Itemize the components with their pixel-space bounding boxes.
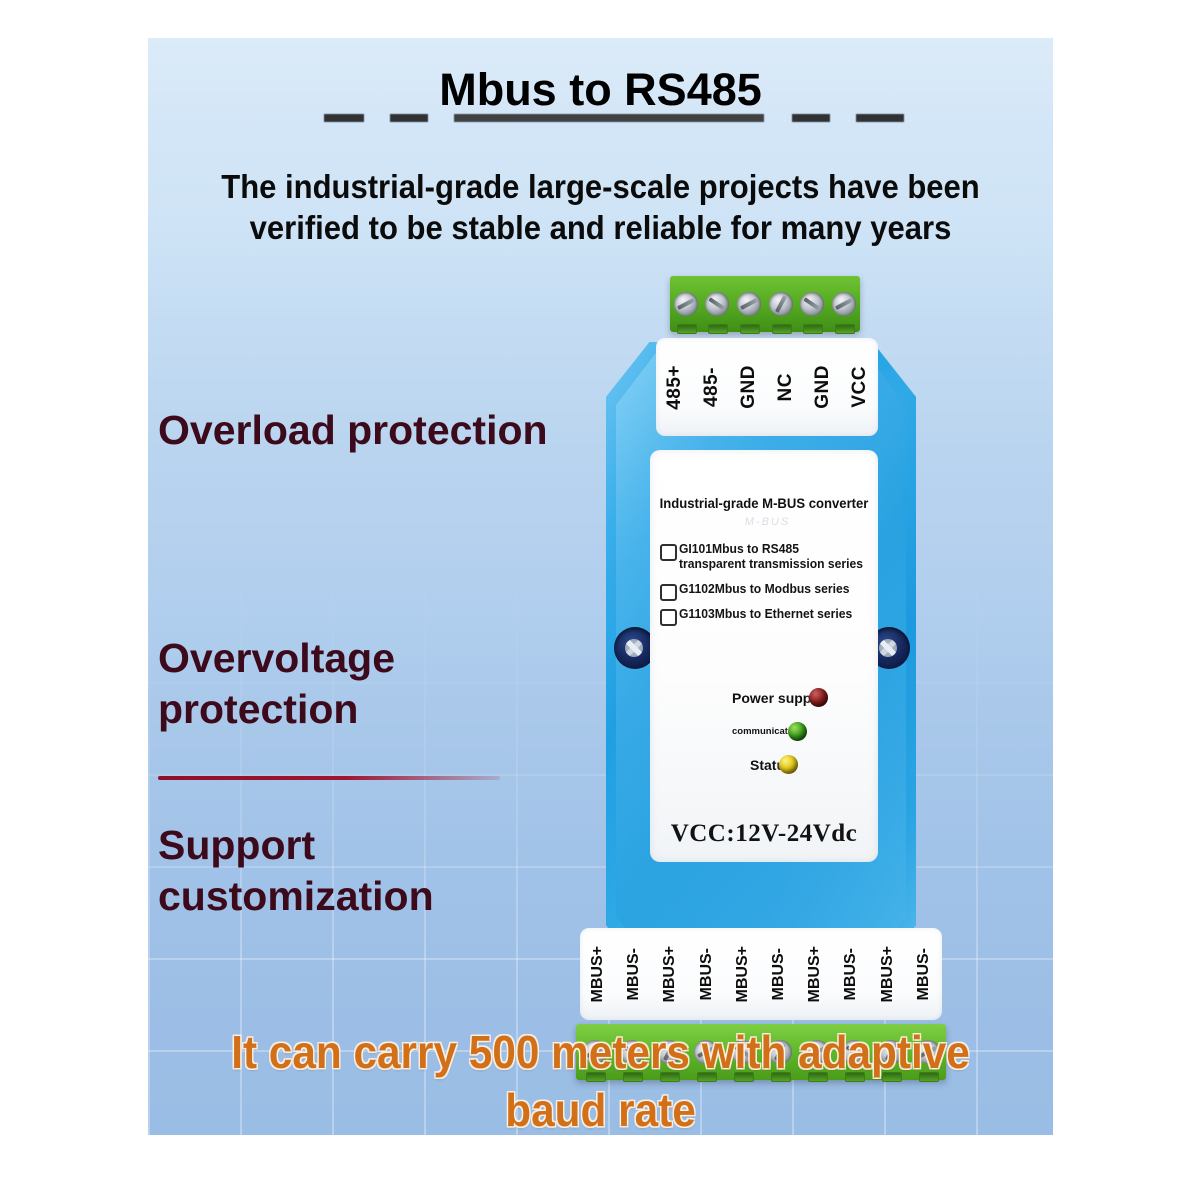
led-indicator-red-icon — [809, 688, 828, 707]
led-communication: communication — [732, 722, 807, 741]
page-title: Mbus to RS485 — [148, 64, 1053, 116]
terminal-screw — [769, 292, 793, 316]
model-option-label: GI101Mbus to RS485 transparent transmiss… — [679, 542, 863, 572]
terminal-slot — [677, 324, 697, 334]
terminal-screw — [705, 292, 729, 316]
mbus-label-7: MBUS+ — [806, 946, 824, 1002]
top-terminal-block — [670, 276, 860, 332]
mbus-label-3: MBUS+ — [661, 946, 679, 1002]
checkbox-icon[interactable] — [660, 544, 677, 561]
terminal-slot — [803, 324, 823, 334]
bottom-tagline: It can carry 500 meters with adaptive ba… — [184, 1023, 1017, 1135]
model-option-label: G1102Mbus to Modbus series — [679, 582, 849, 597]
poster-canvas: Mbus to RS485 The industrial-grade large… — [0, 0, 1200, 1200]
device-front-label: Industrial-grade M-BUS converter M-BUS G… — [650, 450, 878, 862]
mbus-label-10: MBUS- — [915, 948, 933, 1000]
mbus-label-5: MBUS+ — [734, 946, 752, 1002]
terminal-slot — [835, 324, 855, 334]
terminal-label-485-plus: 485+ — [664, 365, 686, 410]
led-power-supply: Power supply — [732, 688, 828, 707]
terminal-label-gnd-1: GND — [738, 365, 760, 409]
feature-divider — [158, 776, 500, 780]
terminal-slot — [772, 324, 792, 334]
feature-overload-protection: Overload protection — [158, 405, 558, 456]
device-photo: 485+ 485- GND NC GND VCC Industrial-grad… — [566, 276, 956, 1086]
mbus-label-4: MBUS- — [698, 948, 716, 1000]
label-watermark: M-BUS — [680, 516, 855, 528]
converter-title: Industrial-grade M-BUS converter — [653, 496, 874, 511]
mbus-label-2: MBUS- — [625, 948, 643, 1000]
terminal-label-485-minus: 485- — [701, 367, 723, 407]
feature-support-customization: Support customization — [158, 820, 558, 922]
model-option-g1102[interactable]: G1102Mbus to Modbus series — [660, 582, 855, 601]
title-dashed-rule — [324, 114, 904, 122]
terminal-screw — [674, 292, 698, 316]
terminal-label-vcc: VCC — [849, 366, 871, 408]
terminal-label-nc: NC — [775, 373, 797, 401]
terminal-label-gnd-2: GND — [812, 365, 834, 409]
feature-overvoltage-protection: Overvoltage protection — [158, 633, 558, 735]
terminal-screw — [832, 292, 856, 316]
terminal-screw — [800, 292, 824, 316]
led-status: Status — [750, 755, 798, 774]
mbus-label-9: MBUS+ — [879, 946, 897, 1002]
terminal-slot — [740, 324, 760, 334]
model-option-label: G1103Mbus to Ethernet series — [679, 607, 852, 622]
terminal-screw — [737, 292, 761, 316]
mbus-label-6: MBUS- — [770, 948, 788, 1000]
led-indicator-green-icon — [788, 722, 807, 741]
page-subtitle: The industrial-grade large-scale project… — [181, 166, 1020, 248]
bottom-terminal-legend: MBUS+ MBUS- MBUS+ MBUS- MBUS+ MBUS- MBUS… — [580, 928, 942, 1020]
model-option-g1103[interactable]: G1103Mbus to Ethernet series — [660, 607, 858, 626]
product-poster: Mbus to RS485 The industrial-grade large… — [148, 38, 1053, 1135]
checkbox-icon[interactable] — [660, 609, 677, 626]
mbus-label-1: MBUS+ — [589, 946, 607, 1002]
top-terminal-legend: 485+ 485- GND NC GND VCC — [656, 338, 878, 436]
checkbox-icon[interactable] — [660, 584, 677, 601]
model-option-gi101[interactable]: GI101Mbus to RS485 transparent transmiss… — [660, 542, 869, 572]
terminal-slot — [708, 324, 728, 334]
power-rating-text: VCC:12V-24Vdc — [650, 820, 878, 848]
led-indicator-yellow-icon — [779, 755, 798, 774]
mbus-label-8: MBUS- — [842, 948, 860, 1000]
